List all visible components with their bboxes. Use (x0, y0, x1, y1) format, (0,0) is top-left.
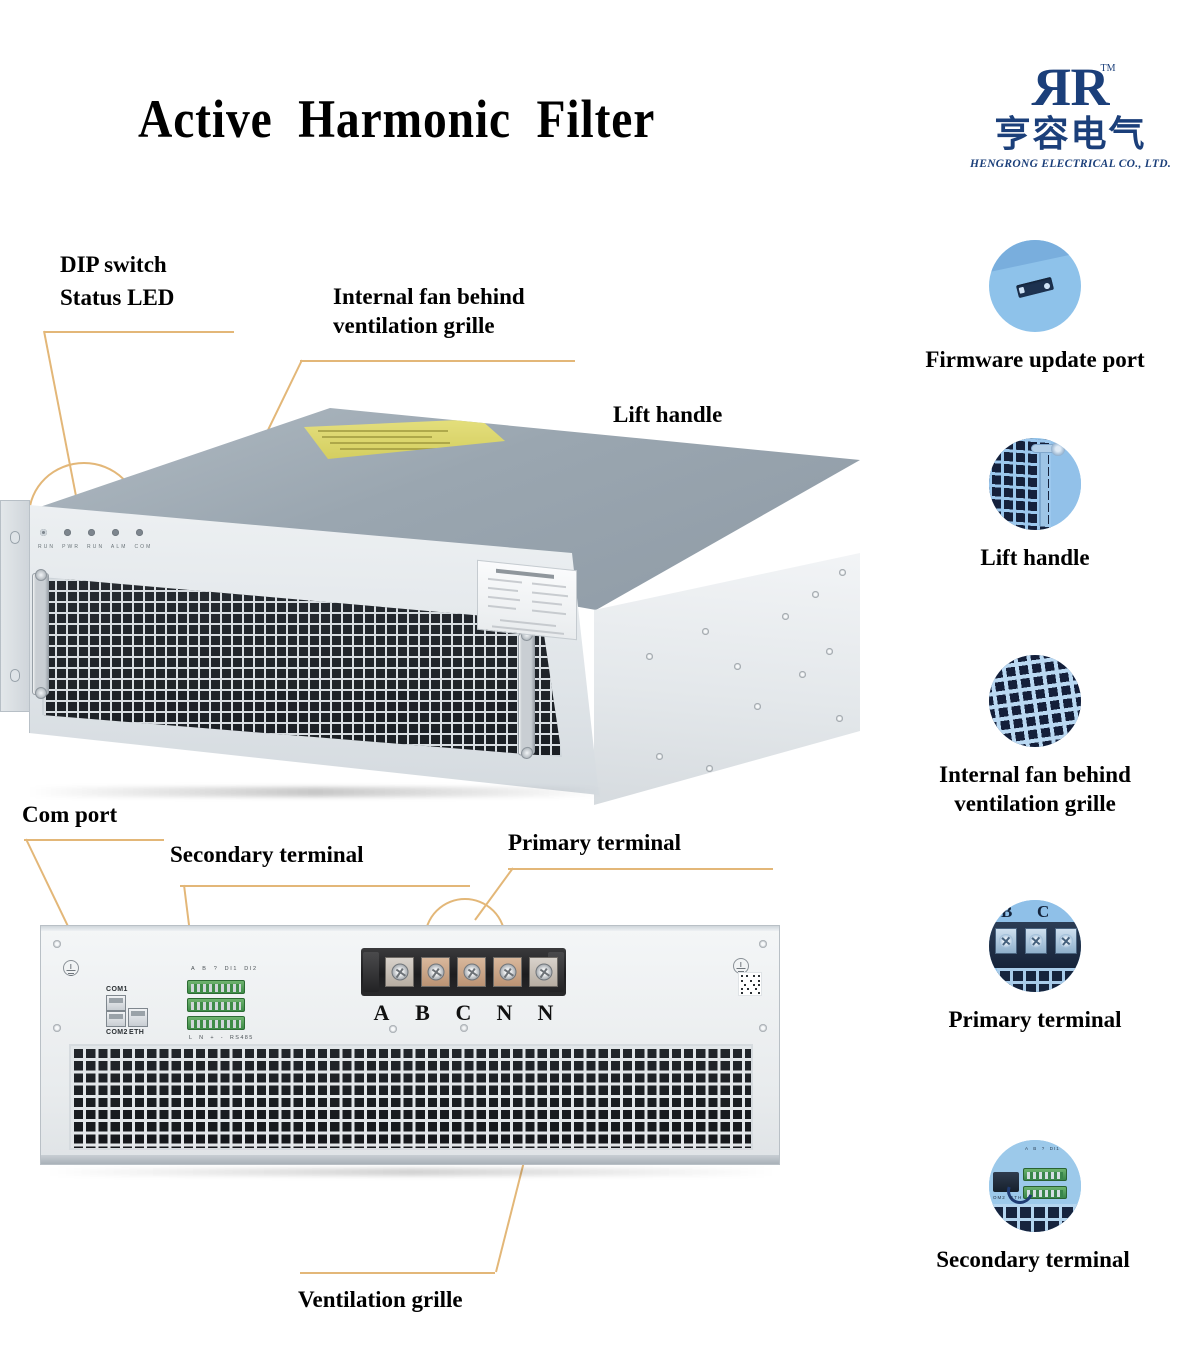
logo-monogram-mirrored-r: R (1038, 62, 1071, 113)
detail-caption: Internal fan behind ventilation grille (890, 761, 1180, 819)
callout-com-port: Com port (22, 800, 117, 829)
phase-label-b: B (402, 1000, 443, 1026)
secondary-terminal-top-label: A B ? DI1 DI2 (191, 966, 258, 972)
primary-terminal-lug-b[interactable] (421, 957, 450, 987)
rear-panel-bottom-edge (41, 1155, 779, 1164)
secondary-terminal-bottom-label: L N + - RS485 (189, 1035, 254, 1041)
callout-status-led: Status LED (60, 283, 174, 312)
active-harmonic-filter-rear-unit: COM1 COM2 ETH A B ? DI1 DI2 L N + - RS48… (40, 925, 780, 1165)
primary-terminal-lug-n2[interactable] (529, 957, 558, 987)
leader-line-primary-terminal-horizontal (508, 868, 773, 870)
com2-port-jack[interactable] (106, 1011, 126, 1027)
detail-secondary-terminal: A B ? DI1 DI2 OM2 ETH Secondary terminal (940, 1140, 1130, 1275)
callout-ventilation-grille: Ventilation grille (298, 1285, 463, 1314)
status-led-5 (136, 529, 143, 536)
callout-dip-switch: DIP switch (60, 250, 167, 279)
specification-nameplate (477, 560, 577, 641)
panel-screw (53, 1024, 61, 1032)
terminal-letter-b: B (1001, 902, 1012, 922)
secondary-terminal-thumbnail-port-label: OM2 ETH (993, 1195, 1022, 1200)
detail-internal-fan: Internal fan behind ventilation grille (940, 655, 1130, 819)
detail-caption: Lift handle (940, 544, 1130, 573)
company-logo: RR TM 亨容电气 HENGRONG ELECTRICAL CO., LTD. (968, 62, 1173, 170)
status-led-4 (112, 529, 119, 536)
secondary-terminal-row-1[interactable] (187, 980, 245, 994)
primary-terminal-end-cap-left (363, 952, 379, 992)
leader-line-ventilation-grille-horizontal (300, 1272, 495, 1274)
primary-terminal-phase-labels: A B C N N (361, 1000, 566, 1026)
lift-handle-center[interactable] (518, 632, 535, 755)
phase-label-a: A (361, 1000, 402, 1026)
panel-screw (460, 1024, 468, 1032)
mesh-grid-icon (989, 655, 1081, 747)
status-led-panel: RUN PWR RUN ALM COM (40, 513, 340, 571)
secondary-terminal-row-3[interactable] (187, 1016, 245, 1030)
secondary-terminal-thumbnail-top-label: A B ? DI1 DI2 (1025, 1146, 1074, 1151)
primary-terminal-block[interactable]: A B C N N (361, 948, 566, 1028)
status-led-group (40, 529, 143, 536)
callout-internal-fan: Internal fan behind ventilation grille (333, 282, 525, 341)
rear-unit-drop-shadow (46, 1168, 776, 1176)
primary-terminal-thumbnail: B C (989, 900, 1081, 992)
lift-handle-left[interactable] (32, 573, 49, 695)
ethernet-port-label: ETH (129, 1029, 144, 1036)
panel-screw (53, 940, 61, 948)
lift-handle-thumbnail (989, 438, 1081, 530)
rack-mount-ear-left (0, 500, 30, 712)
panel-screw (759, 940, 767, 948)
com2-port-label: COM2 (106, 1029, 128, 1036)
status-led-2 (64, 529, 71, 536)
phase-label-n2: N (525, 1000, 566, 1026)
earth-ground-symbol (63, 960, 79, 976)
secondary-terminal-thumbnail: A B ? DI1 DI2 OM2 ETH (989, 1140, 1081, 1232)
leader-line-internal-fan-horizontal (300, 360, 575, 362)
detail-primary-terminal: B C Primary terminal (940, 900, 1130, 1035)
detail-lift-handle: Lift handle (940, 438, 1130, 573)
firmware-port-connector-icon (1016, 277, 1054, 298)
detail-caption: Secondary terminal (898, 1246, 1168, 1275)
detail-caption: Firmware update port (910, 346, 1160, 375)
firmware-update-port-thumbnail (989, 240, 1081, 332)
com-port-group[interactable]: COM1 COM2 ETH (106, 986, 166, 1038)
secondary-terminal-row-2[interactable] (187, 998, 245, 1012)
logo-chinese-name: 亨容电气 (968, 115, 1173, 155)
rear-panel-top-edge (41, 926, 779, 931)
lift-handle-bar-icon (1039, 446, 1048, 526)
chassis-drop-shadow (28, 787, 603, 797)
detail-firmware-update-port: Firmware update port (940, 240, 1130, 375)
phase-label-c: C (443, 1000, 484, 1026)
status-led-3 (88, 529, 95, 536)
qr-code-sticker (738, 972, 762, 996)
chassis-right-side-panel (594, 553, 860, 805)
logo-monogram: RR TM (1038, 62, 1104, 113)
leader-line-secondary-terminal-horizontal (180, 885, 470, 887)
status-led-labels: RUN PWR RUN ALM COM (38, 544, 152, 550)
primary-terminal-lug-c[interactable] (457, 957, 486, 987)
page-title: Active Harmonic Filter (138, 88, 655, 150)
logo-monogram-r: R (1071, 57, 1104, 117)
phase-label-n1: N (484, 1000, 525, 1026)
trademark-symbol: TM (1101, 64, 1116, 74)
com1-port-label: COM1 (106, 986, 128, 993)
terminal-letter-c: C (1037, 902, 1049, 922)
callout-primary-terminal: Primary terminal (508, 828, 681, 857)
com1-port-jack[interactable] (106, 995, 126, 1011)
panel-screw (759, 1024, 767, 1032)
rear-ventilation-grille (69, 1044, 753, 1150)
detail-caption: Primary terminal (910, 1006, 1160, 1035)
secondary-terminal-block[interactable]: A B ? DI1 DI2 L N + - RS485 (187, 980, 245, 1030)
warning-sticker (300, 419, 505, 459)
status-led-1 (40, 529, 47, 536)
callout-secondary-terminal: Secondary terminal (170, 840, 364, 869)
logo-english-name: HENGRONG ELECTRICAL CO., LTD. (968, 158, 1173, 170)
ethernet-port-jack[interactable] (128, 1008, 148, 1027)
internal-fan-grille-thumbnail (989, 655, 1081, 747)
primary-terminal-lug-a[interactable] (385, 957, 414, 987)
active-harmonic-filter-front-unit: RUN PWR RUN ALM COM (0, 405, 860, 805)
primary-terminal-lug-n1[interactable] (493, 957, 522, 987)
